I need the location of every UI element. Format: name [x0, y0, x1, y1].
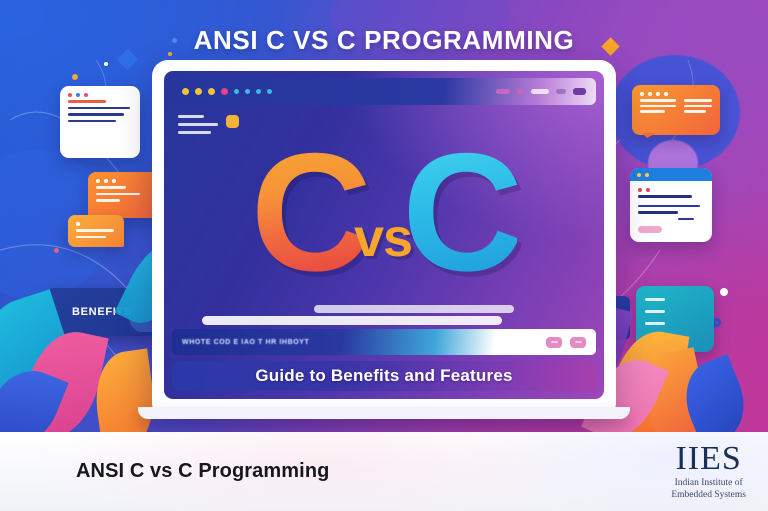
hero-illustration: ANSI C VS C PROGRAMMING: [0, 0, 768, 432]
tab-dot-3[interactable]: [208, 88, 215, 95]
decor-dot-white: [76, 222, 80, 226]
decor-card-dots: [68, 215, 124, 229]
tab-dot-5[interactable]: [234, 89, 239, 94]
decor-dot-white: [640, 92, 644, 96]
footer-bar: ANSI C vs C Programming IIES Indian Inst…: [0, 432, 768, 511]
decor-line: [96, 199, 120, 202]
decor-line: [638, 211, 678, 214]
poster-title: ANSI C VS C PROGRAMMING: [0, 25, 768, 56]
laptop-mockup: C vs C WHOTE COD E IAO T HR IHBOYT: [152, 60, 616, 410]
decor-col-right: [684, 99, 712, 113]
toolbar-pill-2[interactable]: [517, 89, 524, 94]
decor-dot-white: [112, 179, 116, 183]
decor-col-left: [640, 99, 676, 113]
decor-dot-red: [68, 93, 72, 97]
toolbar-pill-3[interactable]: [531, 89, 549, 94]
decor-dot-white: [648, 92, 652, 96]
decor-line: [640, 105, 676, 108]
decor-line: [76, 229, 114, 232]
decor-line: [684, 105, 712, 108]
decor-line: [96, 186, 126, 189]
poster-root: ANSI C VS C PROGRAMMING: [0, 0, 768, 511]
tab-dot-2[interactable]: [195, 88, 202, 95]
decor-chat-bubble-orange-small: [68, 215, 124, 247]
laptop-screen: C vs C WHOTE COD E IAO T HR IHBOYT: [164, 71, 604, 399]
decor-dot-white: [104, 179, 108, 183]
toolbar-pill-1[interactable]: [496, 89, 510, 94]
decor-card-columns: [632, 99, 720, 113]
decor-card-dots: [630, 181, 712, 195]
screen-footer-row: WHOTE COD E IAO T HR IHBOYT: [172, 329, 596, 355]
decor-dot-orange-1: [72, 74, 78, 80]
iies-logo: IIES Indian Institute of Embedded System…: [671, 442, 746, 500]
decor-line: [638, 195, 692, 198]
laptop-shell: C vs C WHOTE COD E IAO T HR IHBOYT: [152, 60, 616, 410]
logo-wordmark: IIES: [671, 442, 746, 476]
tab-dot-8[interactable]: [267, 89, 272, 94]
subtitle-ribbon: Guide to Benefits and Features: [172, 361, 596, 391]
decor-dot-pink-1: [54, 248, 59, 253]
decor-card-dots: [60, 86, 140, 100]
tab-dot-7[interactable]: [256, 89, 261, 94]
action-button-2[interactable]: [570, 337, 586, 348]
toolbar-menu-button[interactable]: [573, 88, 586, 95]
decor-card-white-left: [60, 86, 140, 158]
decor-line: [645, 310, 665, 313]
decor-line: [68, 113, 124, 116]
decor-line: [684, 99, 712, 102]
logo-tagline-line2: Embedded Systems: [671, 490, 746, 501]
decor-dot-white: [96, 179, 100, 183]
decor-chat-bubble-right: [632, 85, 720, 135]
decor-dot-yellow: [645, 173, 649, 177]
letter-c-plain: C: [402, 147, 517, 278]
action-button-1[interactable]: [546, 337, 562, 348]
decor-strip-lower: [202, 316, 502, 325]
vs-label: vs: [354, 207, 412, 269]
placeholder-text: WHOTE COD E IAO T HR IHBOYT: [182, 339, 309, 346]
decor-line: [638, 205, 700, 208]
tab-dot-4[interactable]: [221, 88, 228, 95]
decor-card-header: [630, 168, 712, 181]
logo-tagline: Indian Institute of Embedded Systems: [671, 478, 746, 500]
browser-toolbar-right: [496, 88, 586, 95]
decor-line: [640, 110, 665, 113]
letter-c-ansi: C: [251, 147, 366, 278]
decor-line-accent: [68, 100, 106, 103]
decor-line: [645, 298, 665, 301]
decor-dot-red: [646, 188, 650, 192]
screen-action-buttons: [546, 337, 586, 348]
decor-line: [68, 107, 130, 110]
browser-toolbar[interactable]: [172, 78, 596, 105]
footer-caption: ANSI C vs C Programming: [76, 460, 329, 483]
decor-dot-white: [664, 92, 668, 96]
toolbar-pill-4[interactable]: [556, 89, 566, 94]
decor-line: [76, 236, 106, 239]
c-vs-c-lockup: C vs C: [164, 123, 604, 303]
decor-dot-yellow: [637, 173, 641, 177]
decor-line: [640, 99, 676, 102]
logo-tagline-line1: Indian Institute of: [671, 478, 746, 489]
decor-strip-upper: [314, 305, 514, 313]
decor-dot-blue: [76, 93, 80, 97]
decor-line: [645, 322, 665, 325]
decor-dot-white-3: [720, 288, 728, 296]
decor-line: [178, 115, 204, 118]
decor-dot-red: [638, 188, 642, 192]
decor-dot-red-2: [84, 93, 88, 97]
decor-pill-pink: [638, 226, 662, 233]
tab-dot-6[interactable]: [245, 89, 250, 94]
decor-dot-white: [656, 92, 660, 96]
decor-line: [684, 110, 707, 113]
decor-dot-white-1: [104, 62, 108, 66]
decor-line: [96, 193, 140, 196]
subtitle-text: Guide to Benefits and Features: [255, 366, 512, 386]
decor-line: [68, 120, 116, 123]
decor-card-white-right: [630, 168, 712, 242]
decor-card-dots: [632, 85, 720, 99]
decor-line: [678, 218, 694, 221]
tab-dot-1[interactable]: [182, 88, 189, 95]
